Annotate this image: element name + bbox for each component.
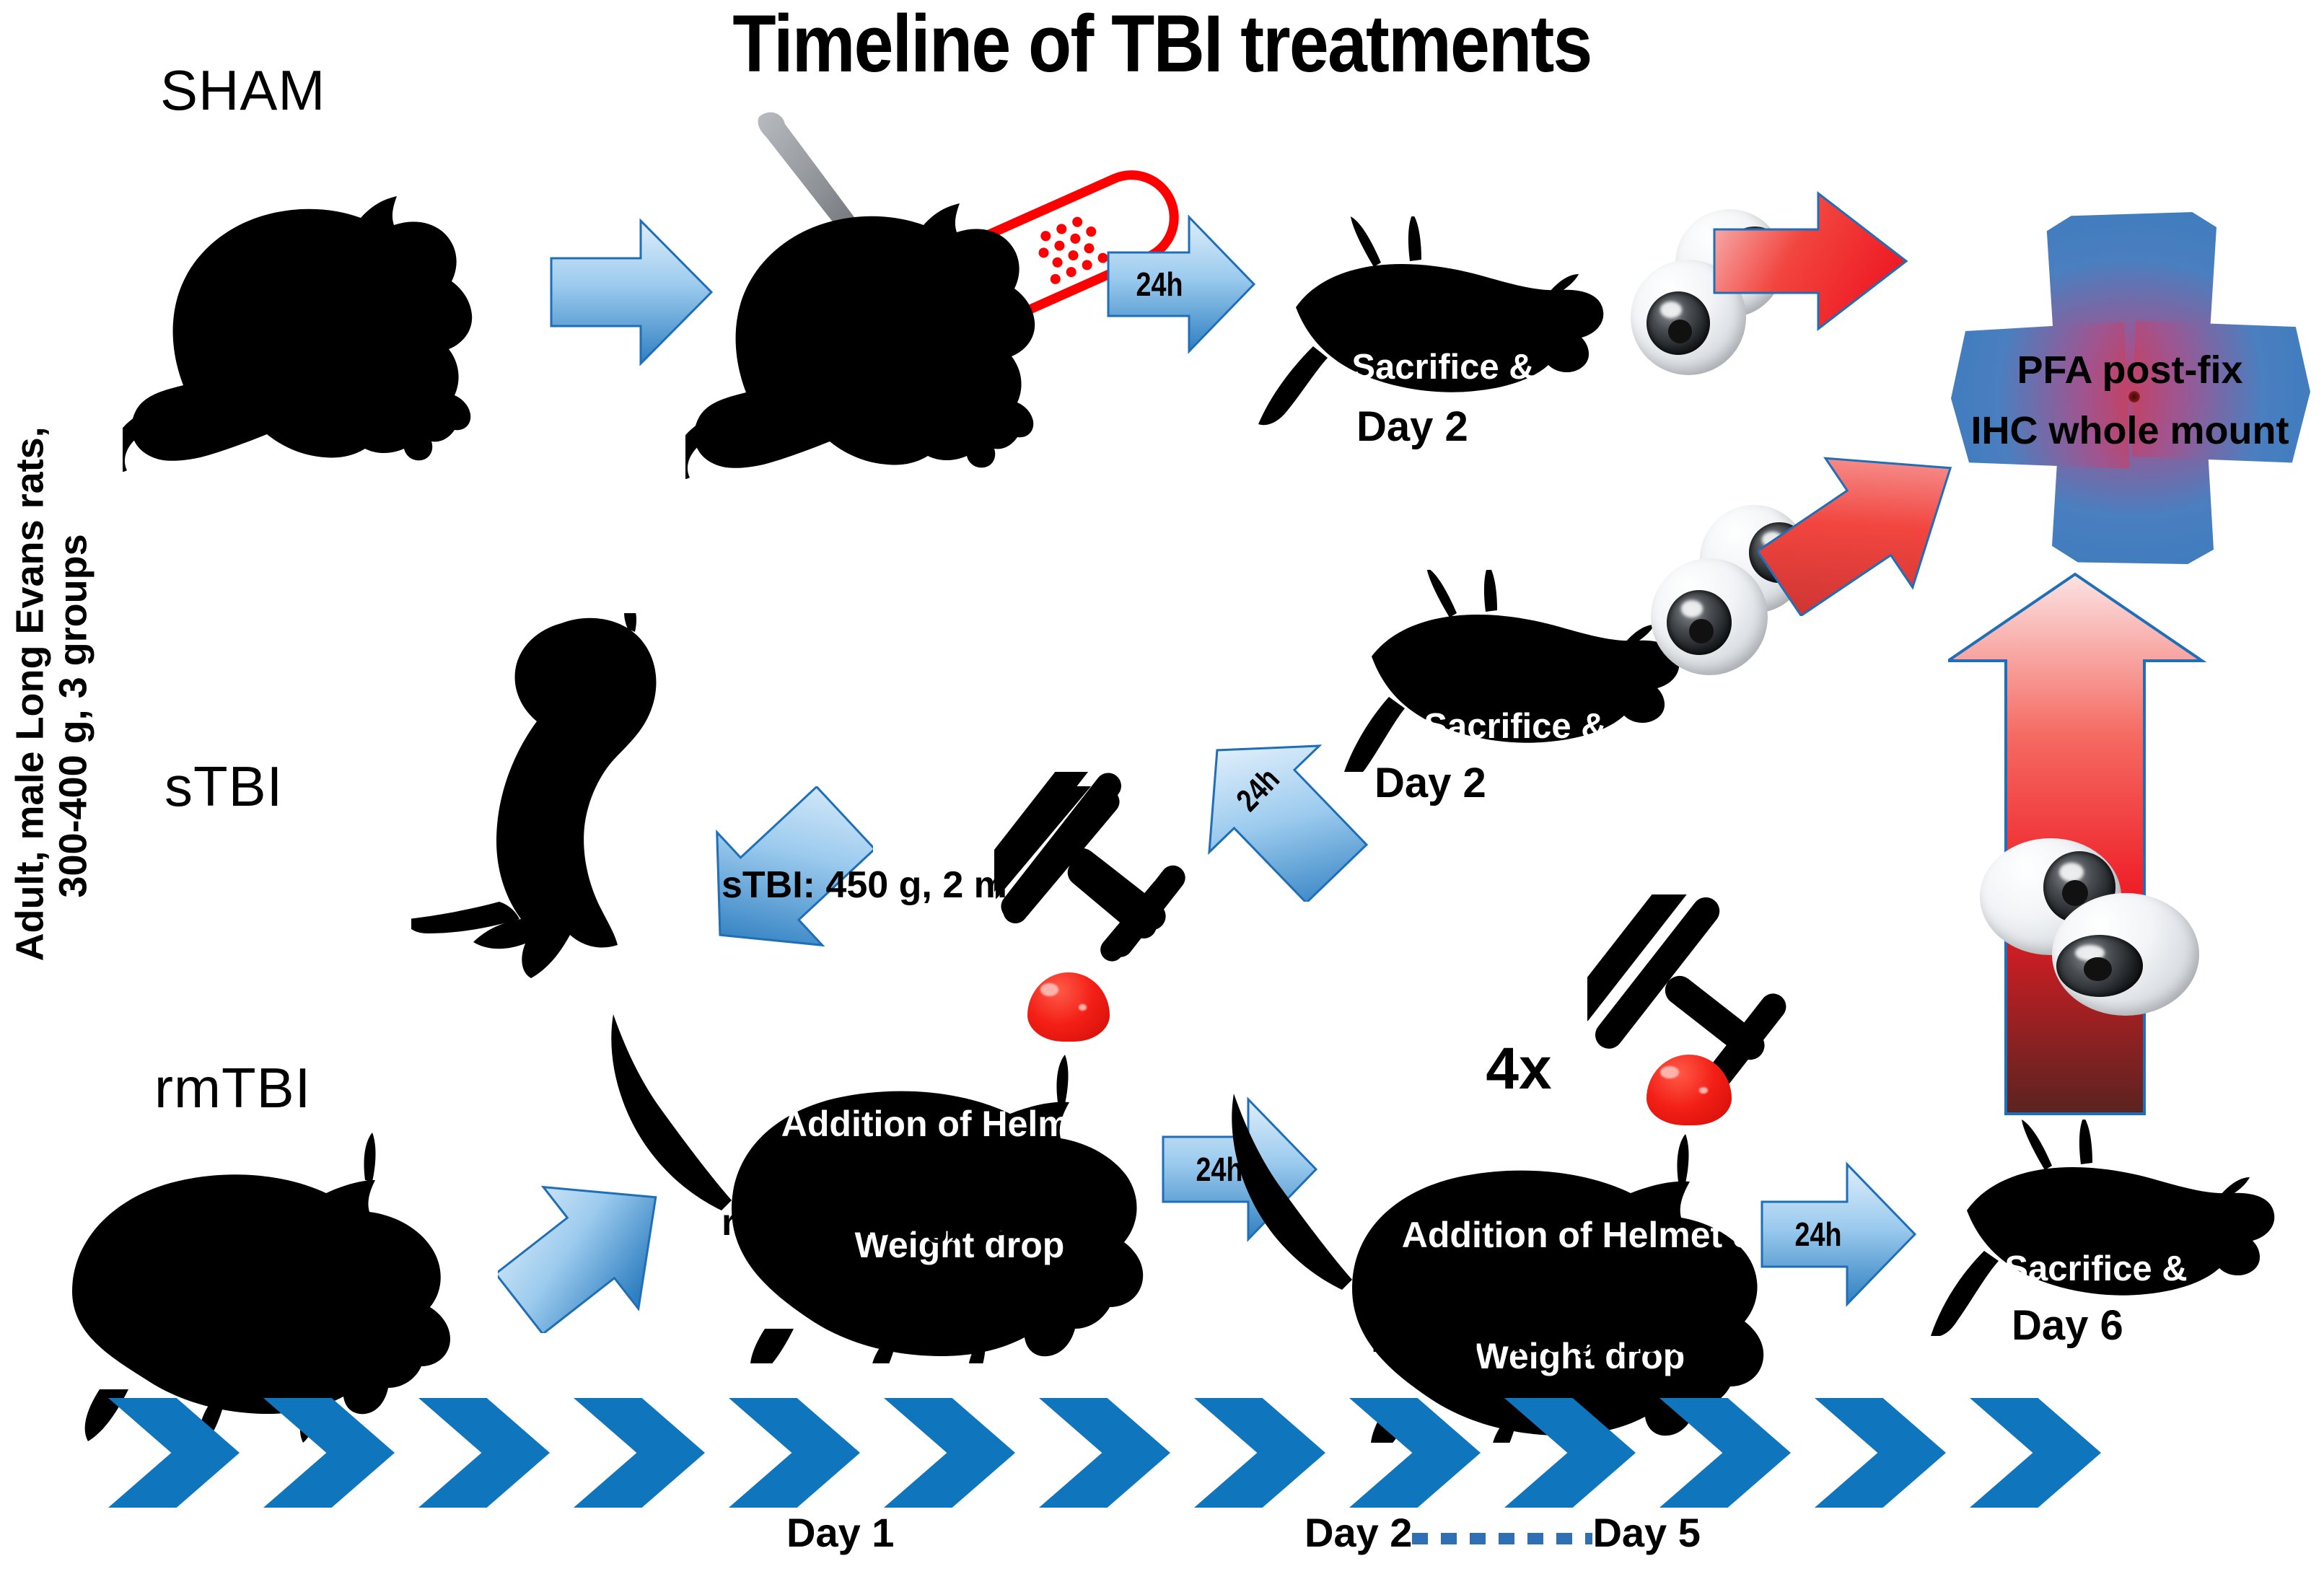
group-label-stbi: sTBI	[165, 757, 283, 817]
timeline-chevron	[418, 1398, 550, 1508]
timeline-day-mid-from: Day 2	[1304, 1510, 1412, 1555]
arrow-rmtbi-24h-2-label: 24h	[1753, 1160, 1883, 1309]
timeline-day-start: Day 1	[786, 1512, 894, 1555]
timeline-chevron	[263, 1398, 395, 1508]
arrow-sham-24h-label: 24h	[1097, 214, 1222, 355]
pupil	[2084, 957, 2111, 981]
timeline-day-mid-to: Day 5	[1592, 1510, 1700, 1555]
timeline-chevron	[1970, 1398, 2101, 1508]
group-label-sham: SHAM	[160, 61, 325, 120]
retina-whole-mount: PFA post-fix IHC whole mount	[1951, 212, 2312, 566]
rmtbi-day-label: Day 6	[2012, 1304, 2123, 1348]
rat-silhouette-sham-surgery	[685, 180, 1111, 483]
group-label-rmtbi: rmTBI	[154, 1059, 311, 1118]
rat-silhouette-stbi-baseline	[411, 613, 714, 988]
timeline-chevron	[729, 1398, 860, 1508]
pupil	[2062, 880, 2088, 906]
timeline-chevrons	[108, 1398, 2107, 1508]
arrow-red-stbi-to-retina	[1758, 436, 1974, 616]
timeline-dashed-connector	[1412, 1533, 1592, 1544]
rmtbi-helmet-label-1: Addition of Helmet & Weight drop	[765, 1023, 1154, 1346]
timeline-chevron	[1194, 1398, 1325, 1508]
timeline-chevron	[1504, 1398, 1636, 1508]
arrow-red-sham-to-retina	[1710, 186, 1912, 338]
timeline-chevron	[108, 1398, 240, 1508]
iris	[1646, 291, 1710, 355]
timeline-chevron	[1815, 1398, 1946, 1508]
rmtbi-injury-spec-2: rmTBI: 450 g, 15 cm	[1371, 1320, 1725, 1360]
cohort-caption: Adult, male Long Evans rats,300-400 g, 3…	[9, 470, 96, 961]
rat-silhouette-sham-baseline	[123, 173, 527, 476]
rmtbi-injury-spec-1: rmTBI: 450 g, 15 cm	[722, 1203, 1076, 1243]
page-title: Timeline of TBI treatments	[139, 1, 2184, 87]
timeline-chevron	[1349, 1398, 1481, 1508]
pupil	[1689, 619, 1714, 643]
sham-day-label: Day 2	[1356, 405, 1468, 449]
timeline-chevron	[1039, 1398, 1170, 1508]
timeline-day-range: Day 2Day 5	[1304, 1512, 1701, 1555]
eyeball-pair-rmtbi	[1980, 838, 2218, 1040]
eyeball-lower	[2052, 893, 2199, 1016]
iris	[2056, 935, 2143, 997]
iris	[1667, 590, 1732, 655]
timeline-chevron	[574, 1398, 705, 1508]
pupil	[1668, 320, 1692, 343]
stbi-injury-spec: sTBI: 450 g, 2 m	[722, 866, 1007, 905]
timeline-chevron	[884, 1398, 1015, 1508]
arrow-rmtbi-24h-2: 24h	[1759, 1160, 1918, 1309]
eyeball-lower	[1651, 558, 1768, 675]
weight-drop-apparatus-rmtbi-1	[994, 772, 1196, 974]
rat-silhouette-rmtbi-baseline	[43, 1125, 491, 1443]
stbi-day-label: Day 2	[1374, 762, 1486, 806]
timeline-chevron	[1659, 1398, 1791, 1508]
